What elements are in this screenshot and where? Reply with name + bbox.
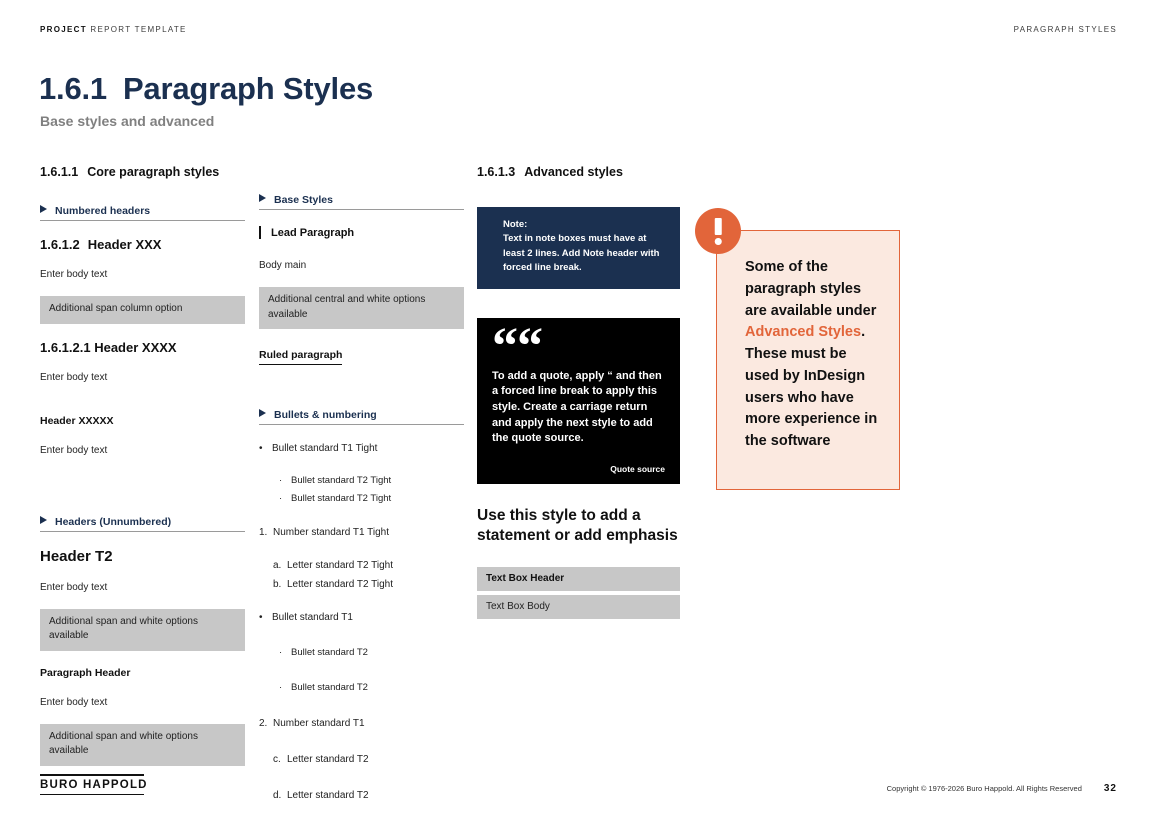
header-xxx: 1.6.1.2Header XXX bbox=[40, 237, 245, 252]
quote-box: ““ To add a quote, apply “ and then a fo… bbox=[477, 318, 680, 484]
document-page: PROJECT REPORT TEMPLATE PARAGRAPH STYLES… bbox=[0, 0, 1157, 816]
running-head-project: PROJECT bbox=[40, 25, 87, 34]
lead-paragraph-text: Lead Paragraph bbox=[271, 227, 354, 239]
list-item-marker: · bbox=[279, 474, 291, 488]
list-item-marker: 2. bbox=[259, 716, 273, 731]
list-item: a.Letter standard T2 Tight bbox=[273, 558, 464, 573]
group-label-text: Numbered headers bbox=[55, 205, 150, 217]
gray-box-span-white-1: Additional span and white options availa… bbox=[40, 609, 245, 651]
header-xxx-number: 1.6.1.2 bbox=[40, 237, 80, 252]
page-title: 1.6.1Paragraph Styles bbox=[39, 71, 373, 107]
body-text-3: Enter body text bbox=[40, 445, 245, 456]
list-item-marker: · bbox=[279, 646, 291, 660]
list-item-label: Bullet standard T2 bbox=[291, 681, 368, 695]
list-item: •Bullet standard T1 bbox=[259, 610, 464, 625]
vertical-rule-icon bbox=[259, 226, 261, 239]
header-xxx-text: Header XXX bbox=[88, 237, 162, 252]
group-label-base-styles: Base Styles bbox=[259, 194, 464, 210]
list-item: b.Letter standard T2 Tight bbox=[273, 577, 464, 592]
page-title-text: Paragraph Styles bbox=[123, 71, 373, 106]
running-head-left: PROJECT REPORT TEMPLATE bbox=[40, 25, 187, 34]
body-main-text: Body main bbox=[259, 260, 464, 271]
list-item: ·Bullet standard T2 Tight bbox=[279, 492, 464, 506]
list-item: ·Bullet standard T2 bbox=[279, 681, 464, 695]
text-box-header: Text Box Header bbox=[477, 567, 680, 591]
list-item-marker: · bbox=[279, 681, 291, 695]
group-label-text: Bullets & numbering bbox=[274, 409, 377, 421]
list-item-label: Letter standard T2 Tight bbox=[287, 558, 393, 573]
quote-text: To add a quote, apply “ and then a force… bbox=[492, 369, 665, 447]
list-item-label: Letter standard T2 Tight bbox=[287, 577, 393, 592]
copyright-text: Copyright © 1976-2026 Buro Happold. All … bbox=[887, 784, 1082, 793]
statement-text: Use this style to add a statement or add… bbox=[477, 506, 680, 546]
logo-rule-bottom bbox=[40, 794, 144, 796]
gray-box-span-column-option: Additional span column option bbox=[40, 296, 245, 324]
group-label-text: Headers (Unnumbered) bbox=[55, 516, 171, 528]
group-label-bullets-numbering: Bullets & numbering bbox=[259, 409, 464, 425]
callout-text-part1: Some of the paragraph styles are availab… bbox=[745, 259, 876, 319]
list-item-label: Bullet standard T1 Tight bbox=[272, 441, 377, 456]
spacer bbox=[40, 472, 245, 516]
list-item-marker: • bbox=[259, 610, 272, 625]
quote-source: Quote source bbox=[610, 464, 665, 474]
note-box-content: Note: Text in note boxes must have at le… bbox=[503, 218, 667, 276]
header-xxxxx: Header XXXXX bbox=[40, 415, 245, 427]
running-head-template: REPORT TEMPLATE bbox=[90, 25, 186, 34]
list-item-label: Letter standard T2 bbox=[287, 788, 369, 803]
gray-box-span-white-2: Additional span and white options availa… bbox=[40, 724, 245, 766]
lead-paragraph-sample: Lead Paragraph bbox=[259, 226, 464, 239]
triangle-right-icon bbox=[259, 194, 266, 202]
list-item-label: Bullet standard T2 bbox=[291, 646, 368, 660]
column-base-styles: Base Styles Lead Paragraph Body main Add… bbox=[259, 194, 464, 807]
list-item-marker: · bbox=[279, 492, 291, 506]
triangle-right-icon bbox=[40, 205, 47, 213]
list-item-marker: • bbox=[259, 441, 272, 456]
note-label: Note: bbox=[503, 219, 527, 230]
column-advanced-styles: 1.6.1.3Advanced styles Note: Text in not… bbox=[477, 165, 680, 619]
list-item-label: Bullet standard T2 Tight bbox=[291, 474, 391, 488]
page-subtitle: Base styles and advanced bbox=[40, 113, 214, 129]
column-core-paragraph-styles: 1.6.1.1Core paragraph styles Numbered he… bbox=[40, 165, 245, 782]
list-item: ·Bullet standard T2 bbox=[279, 646, 464, 660]
footer-right: Copyright © 1976-2026 Buro Happold. All … bbox=[887, 783, 1117, 794]
paragraph-header: Paragraph Header bbox=[40, 667, 245, 679]
text-box-body: Text Box Body bbox=[477, 595, 680, 619]
exclamation-dot bbox=[715, 238, 722, 245]
page-number: 32 bbox=[1104, 783, 1117, 794]
exclamation-badge-icon bbox=[695, 208, 741, 254]
list-item: c.Letter standard T2 bbox=[273, 752, 464, 767]
callout-box: Some of the paragraph styles are availab… bbox=[716, 230, 900, 490]
list-item: d.Letter standard T2 bbox=[273, 788, 464, 803]
section-number-advanced: 1.6.1.3 bbox=[477, 165, 515, 179]
logo-text: BURO HAPPOLD bbox=[40, 776, 144, 794]
group-label-text: Base Styles bbox=[274, 194, 333, 206]
bullets-and-numbering-list: •Bullet standard T1 Tight·Bullet standar… bbox=[259, 441, 464, 803]
callout-text-part2: . These must be used by InDesign users w… bbox=[745, 324, 877, 449]
note-text: Text in note boxes must have at least 2 … bbox=[503, 233, 659, 273]
body-text-1: Enter body text bbox=[40, 269, 245, 280]
list-item-marker: c. bbox=[273, 752, 287, 767]
triangle-right-icon bbox=[40, 516, 47, 524]
buro-happold-logo: BURO HAPPOLD bbox=[40, 774, 144, 795]
list-item: •Bullet standard T1 Tight bbox=[259, 441, 464, 456]
section-title-core: Core paragraph styles bbox=[87, 165, 219, 179]
triangle-right-icon bbox=[259, 409, 266, 417]
section-heading-core: 1.6.1.1Core paragraph styles bbox=[40, 165, 245, 179]
exclamation-icon bbox=[488, 219, 499, 277]
callout-text-accent: Advanced Styles bbox=[745, 324, 861, 340]
list-item-label: Number standard T1 bbox=[273, 716, 365, 731]
group-label-headers-unnumbered: Headers (Unnumbered) bbox=[40, 516, 245, 532]
spacer bbox=[40, 399, 245, 415]
section-number-core: 1.6.1.1 bbox=[40, 165, 78, 179]
ruled-paragraph: Ruled paragraph bbox=[259, 349, 342, 365]
gray-box-central-white: Additional central and white options ava… bbox=[259, 287, 464, 329]
section-title-advanced: Advanced styles bbox=[524, 165, 623, 179]
body-text-2: Enter body text bbox=[40, 372, 245, 383]
list-item: 1.Number standard T1 Tight bbox=[259, 525, 464, 540]
exclamation-stem bbox=[715, 218, 722, 235]
note-box: Note: Text in note boxes must have at le… bbox=[477, 207, 680, 289]
section-heading-advanced: 1.6.1.3Advanced styles bbox=[477, 165, 680, 179]
group-label-numbered-headers: Numbered headers bbox=[40, 205, 245, 221]
list-item-label: Letter standard T2 bbox=[287, 752, 369, 767]
header-xxxx: 1.6.1.2.1 Header XXXX bbox=[40, 340, 245, 355]
list-item-label: Number standard T1 Tight bbox=[273, 525, 389, 540]
page-title-number: 1.6.1 bbox=[39, 71, 107, 106]
quotation-mark-icon: ““ bbox=[492, 331, 665, 365]
body-text-4: Enter body text bbox=[40, 582, 245, 593]
header-t2: Header T2 bbox=[40, 548, 245, 565]
list-item-label: Bullet standard T1 bbox=[272, 610, 353, 625]
list-item-marker: d. bbox=[273, 788, 287, 803]
callout-text: Some of the paragraph styles are availab… bbox=[745, 257, 883, 453]
body-text-5: Enter body text bbox=[40, 697, 245, 708]
running-head-right: PARAGRAPH STYLES bbox=[1014, 25, 1117, 34]
list-item: ·Bullet standard T2 Tight bbox=[279, 474, 464, 488]
ruled-paragraph-wrap: Ruled paragraph bbox=[259, 345, 464, 365]
list-item-marker: 1. bbox=[259, 525, 273, 540]
list-item-label: Bullet standard T2 Tight bbox=[291, 492, 391, 506]
list-item: 2.Number standard T1 bbox=[259, 716, 464, 731]
list-item-marker: b. bbox=[273, 577, 287, 592]
list-item-marker: a. bbox=[273, 558, 287, 573]
